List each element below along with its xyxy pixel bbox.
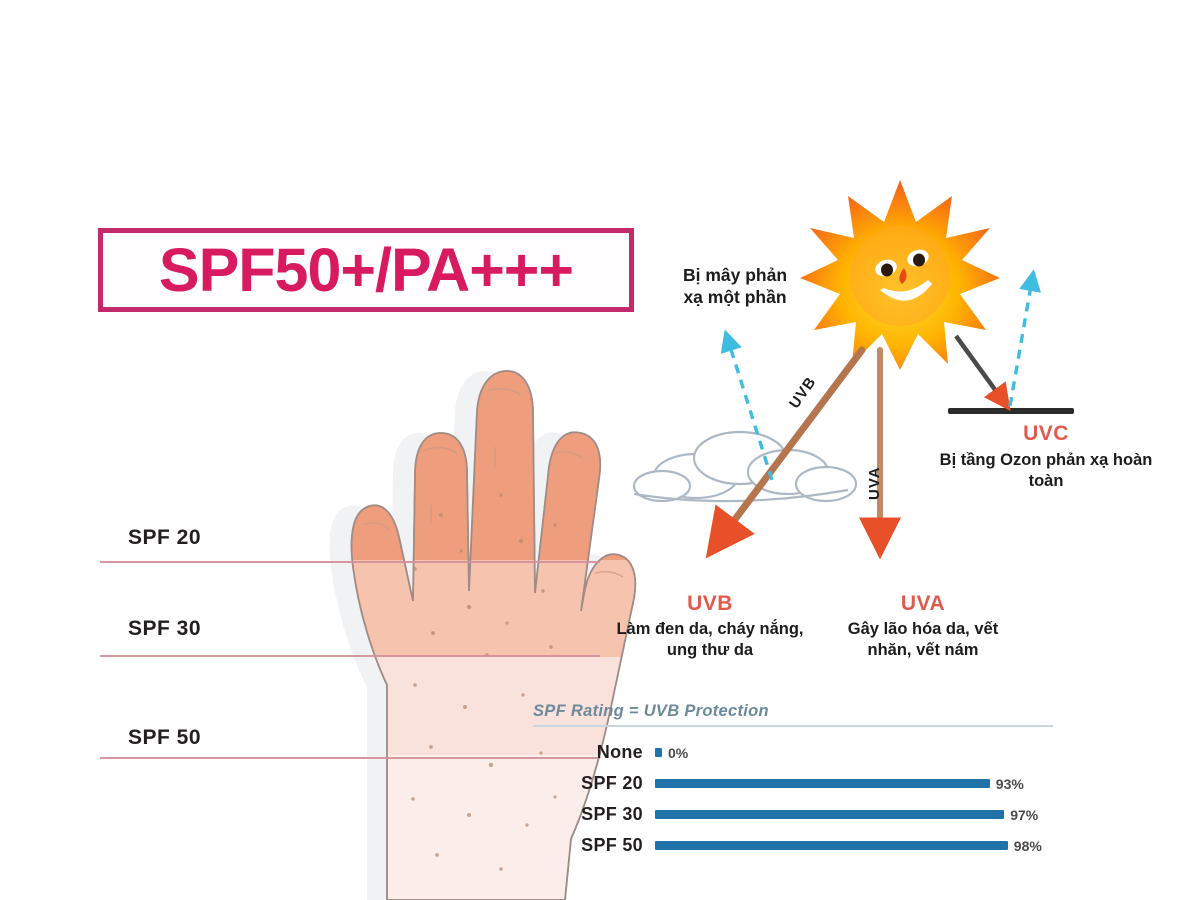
uvb-info-block: UVB Làm đen da, cháy nắng, ung thư da [610,592,810,662]
uva-info-block: UVA Gây lão hóa da, vết nhăn, vết nám [828,592,1018,662]
chart-row: SPF 5098% [533,830,1073,861]
sun-icon [800,180,1000,370]
chart-category-label: SPF 30 [533,804,655,825]
uvc-description: Bị tầng Ozon phản xạ hoàn toàn [930,450,1162,492]
chart-bar [655,748,662,757]
chart-row: SPF 2093% [533,768,1073,799]
uva-ray-label: UVA [866,466,883,500]
chart-value-label: 93% [996,776,1024,792]
uvc-reflection-arrow [1010,280,1032,406]
spf-level-label-30: SPF 30 [128,617,201,641]
chart-category-label: SPF 50 [533,835,655,856]
chart-bar-track: 98% [655,830,1073,861]
chart-value-label: 97% [1010,807,1038,823]
chart-bar-track: 97% [655,799,1073,830]
chart-row: SPF 3097% [533,799,1073,830]
spf-rule-20 [100,561,600,563]
cloud-reflection-note: Bị mây phản xạ một phần [672,264,798,309]
chart-row: None0% [533,737,1073,768]
chart-bar [655,779,990,788]
ozone-layer-bar [948,408,1074,414]
chart-rows: None0%SPF 2093%SPF 3097%SPF 5098% [533,737,1073,861]
chart-bar [655,810,1004,819]
cloud-icon [634,432,856,501]
uva-description: Gây lão hóa da, vết nhăn, vết nám [828,619,1018,662]
uvb-title: UVB [610,592,810,616]
spf-title-box: SPF50+/PA+++ [98,228,634,312]
uvb-description: Làm đen da, cháy nắng, ung thư da [610,619,810,662]
uva-title: UVA [828,592,1018,616]
chart-value-label: 0% [668,745,688,761]
chart-bar-track: 0% [655,737,1073,768]
uvc-incoming-arrow [956,336,1004,402]
spf-level-label-20: SPF 20 [128,526,201,550]
chart-category-label: None [533,742,655,763]
chart-title-rule [533,725,1053,727]
chart-value-label: 98% [1014,838,1042,854]
page-title: SPF50+/PA+++ [159,235,573,305]
chart-bar-track: 93% [655,768,1073,799]
infographic-canvas: SPF50+/PA+++ [0,0,1200,900]
spf-rule-50 [100,757,600,759]
spf-level-label-50: SPF 50 [128,726,201,750]
chart-bar [655,841,1008,850]
uvc-title: UVC [930,422,1162,446]
spf-rule-30 [100,655,600,657]
chart-title: SPF Rating = UVB Protection [533,702,1073,725]
chart-category-label: SPF 20 [533,773,655,794]
spf-protection-chart: SPF Rating = UVB Protection None0%SPF 20… [533,702,1073,861]
hand-tone-dark [255,355,645,560]
